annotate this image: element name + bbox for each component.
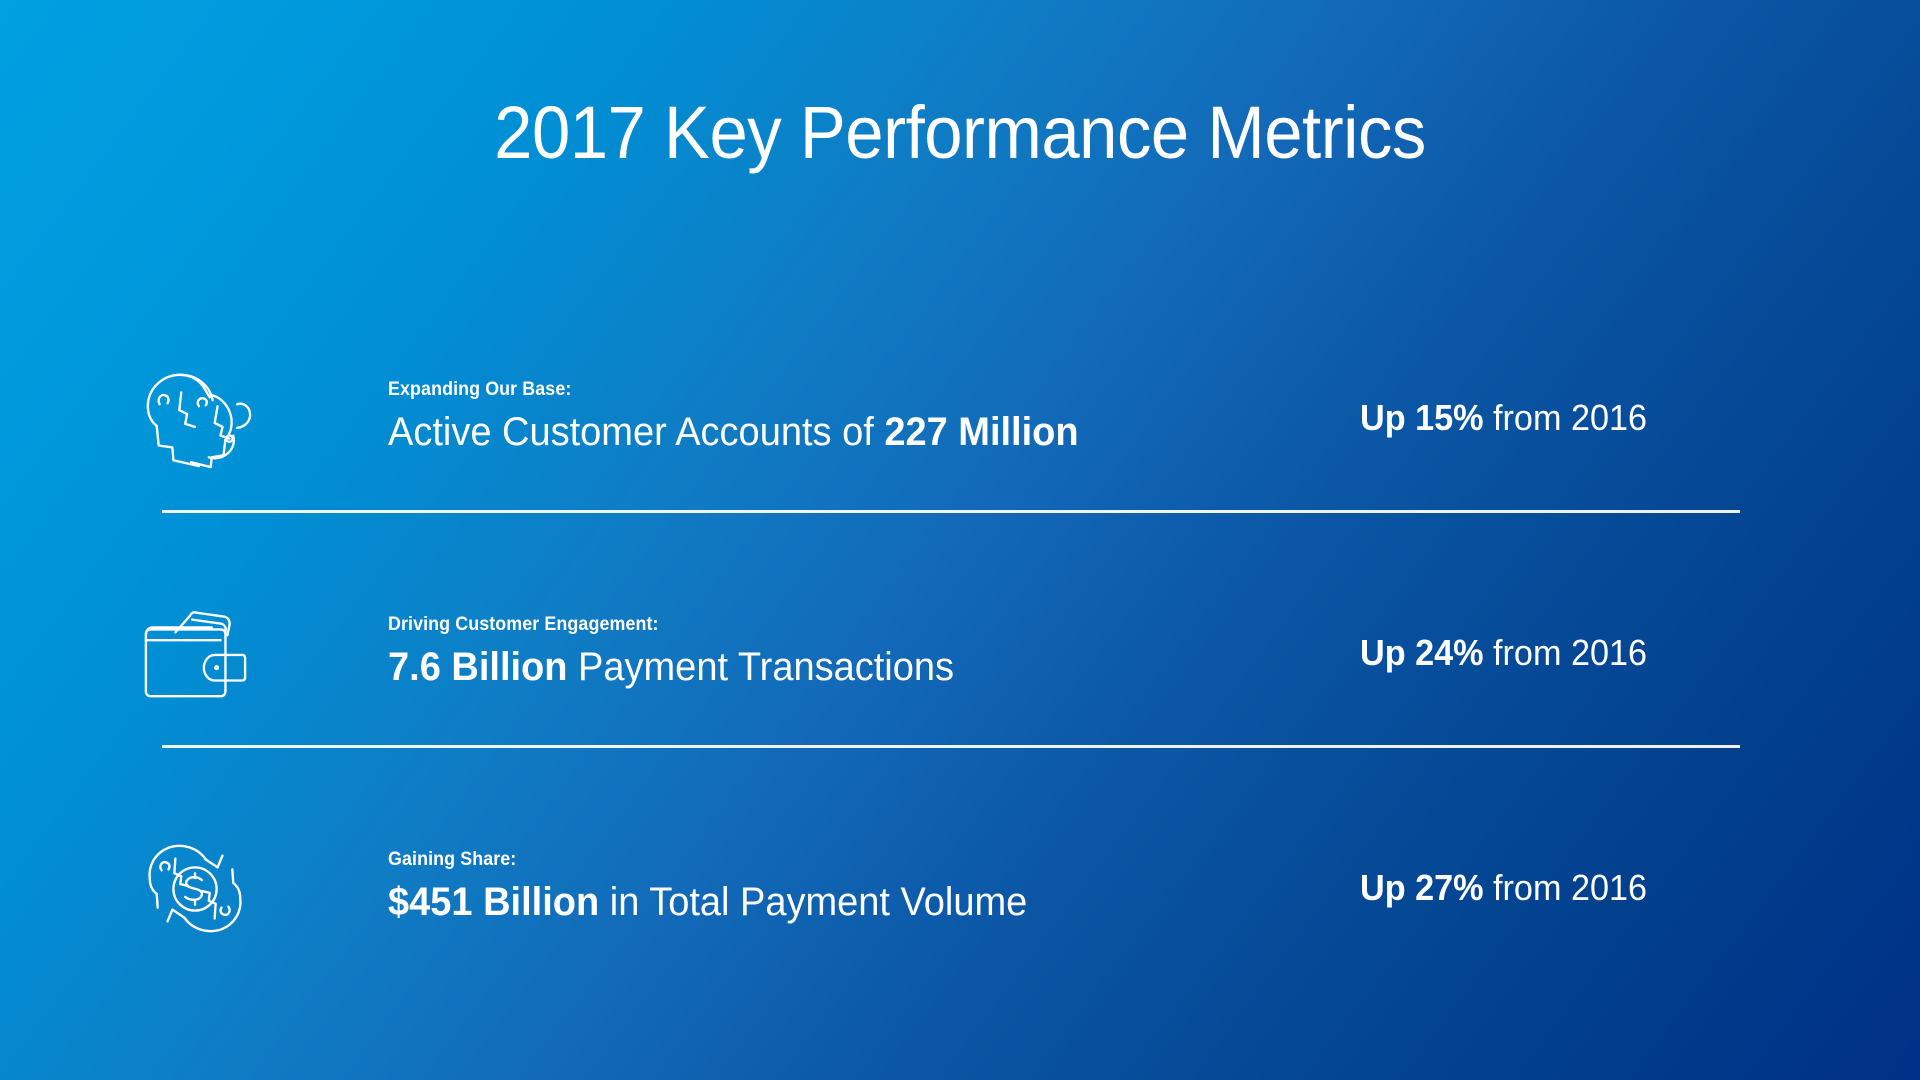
delta-value: Up 15% <box>1360 397 1484 438</box>
headline-suffix: in Total Payment Volume <box>599 880 1027 924</box>
metric-text-cell: Expanding Our Base: Active Customer Acco… <box>330 380 1360 455</box>
headline-value: 227 Million <box>884 410 1078 454</box>
metric-row: Gaining Share: $451 Billion in Total Pay… <box>0 770 1920 1005</box>
metric-delta-cell: Up 24% from 2016 <box>1360 633 1892 673</box>
metrics-list: Expanding Our Base: Active Customer Acco… <box>0 300 1920 1005</box>
delta-suffix: from 2016 <box>1484 867 1647 908</box>
headline-value: $451 Billion <box>388 880 599 924</box>
metric-row: Expanding Our Base: Active Customer Acco… <box>0 300 1920 535</box>
metric-icon-cell <box>0 363 330 473</box>
metric-icon-cell <box>0 833 330 943</box>
wallet-card-icon <box>136 598 254 708</box>
metric-headline: $451 Billion in Total Payment Volume <box>388 880 1311 925</box>
delta-value: Up 27% <box>1360 867 1484 908</box>
metric-eyebrow: Gaining Share: <box>388 850 1302 871</box>
delta-suffix: from 2016 <box>1484 632 1647 673</box>
metric-eyebrow: Driving Customer Engagement: <box>388 615 1302 636</box>
metric-icon-cell <box>0 598 330 708</box>
delta-suffix: from 2016 <box>1484 397 1647 438</box>
metric-eyebrow: Expanding Our Base: <box>388 380 1302 401</box>
headline-prefix: Active Customer Accounts of <box>388 410 884 454</box>
row-divider-2 <box>162 745 1740 748</box>
headline-suffix: Payment Transactions <box>567 645 954 689</box>
money-transfer-icon <box>136 833 254 943</box>
metric-delta-cell: Up 27% from 2016 <box>1360 868 1892 908</box>
headline-value: 7.6 Billion <box>388 645 567 689</box>
metric-text-cell: Driving Customer Engagement: 7.6 Billion… <box>330 615 1360 690</box>
metric-row: Driving Customer Engagement: 7.6 Billion… <box>0 535 1920 770</box>
metric-delta-cell: Up 15% from 2016 <box>1360 398 1892 438</box>
page-title: 2017 Key Performance Metrics <box>67 96 1853 170</box>
metric-headline: 7.6 Billion Payment Transactions <box>388 645 1311 690</box>
row-divider-1 <box>162 510 1740 513</box>
people-faces-icon <box>136 363 254 473</box>
kpi-slide: 2017 Key Performance Metrics <box>0 0 1920 1080</box>
metric-text-cell: Gaining Share: $451 Billion in Total Pay… <box>330 850 1360 925</box>
metric-headline: Active Customer Accounts of 227 Million <box>388 410 1311 455</box>
delta-value: Up 24% <box>1360 632 1484 673</box>
